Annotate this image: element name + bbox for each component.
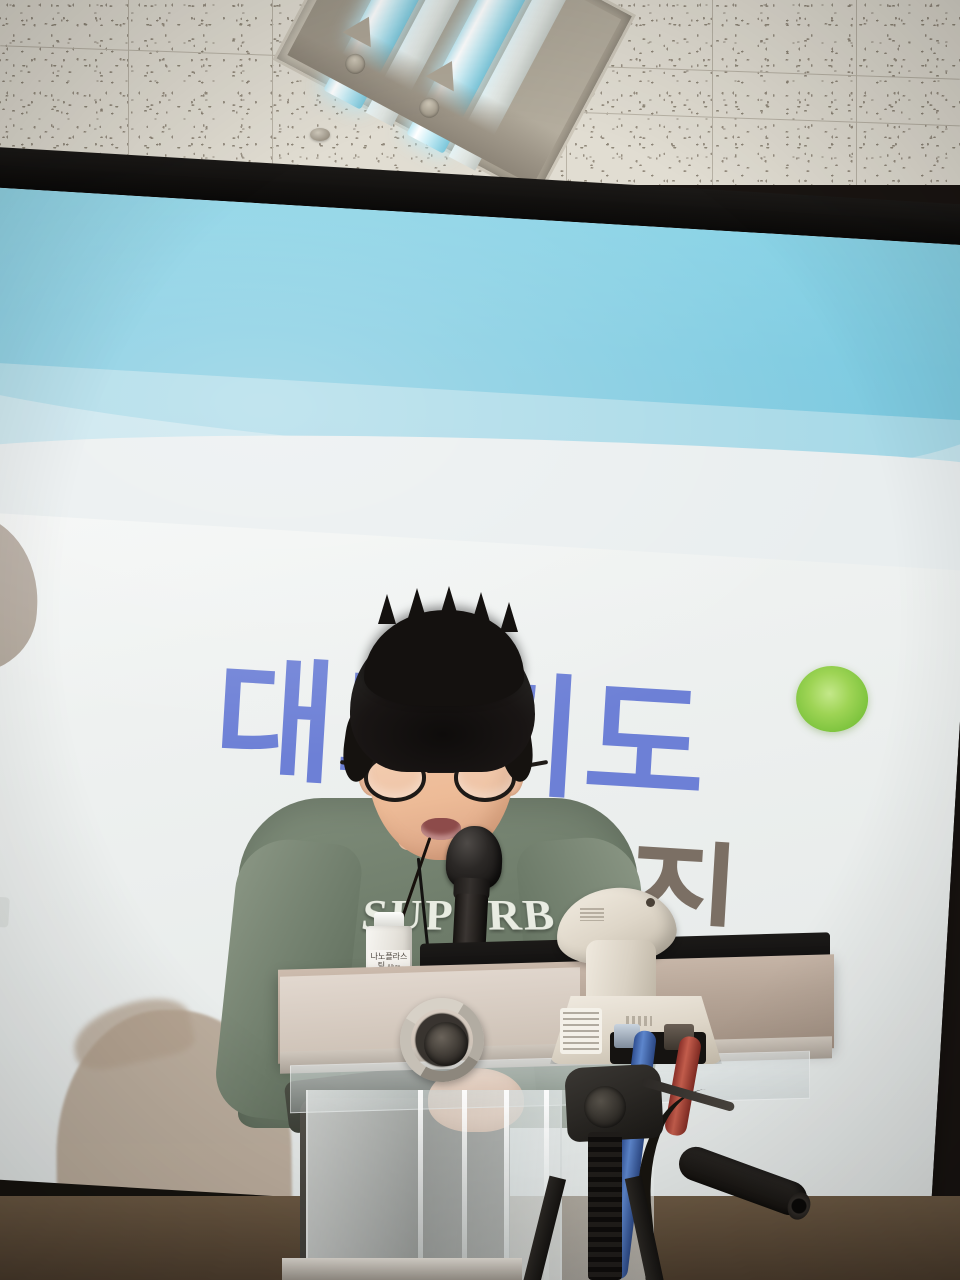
cartoon-base-highlight (0, 895, 10, 928)
lectern-metal-base (282, 1258, 522, 1280)
tripod-center-column (588, 1132, 622, 1280)
cartoon-hair (0, 508, 43, 677)
camera-sticker-text (563, 1012, 599, 1050)
photo-scene: 대표기도 이서진 SUPERB (0, 0, 960, 1280)
tripod-knob[interactable] (584, 1086, 626, 1128)
camera-lens-icon (646, 898, 655, 907)
lectern-acrylic-edge (504, 1090, 509, 1280)
lectern-acrylic-edge (462, 1090, 467, 1280)
green-sphere-decoration (794, 664, 870, 734)
ceiling-tile-seam (856, 0, 857, 185)
lectern-acrylic-edge (418, 1090, 423, 1280)
lectern-ring-hole (424, 1022, 468, 1066)
camera-head-label (580, 908, 604, 921)
cartoon-boy-illustration (0, 498, 63, 977)
ceiling-tile-seam (712, 0, 713, 185)
ceiling-sprinkler-icon (310, 128, 330, 141)
ceiling-tile-seam (272, 0, 273, 185)
